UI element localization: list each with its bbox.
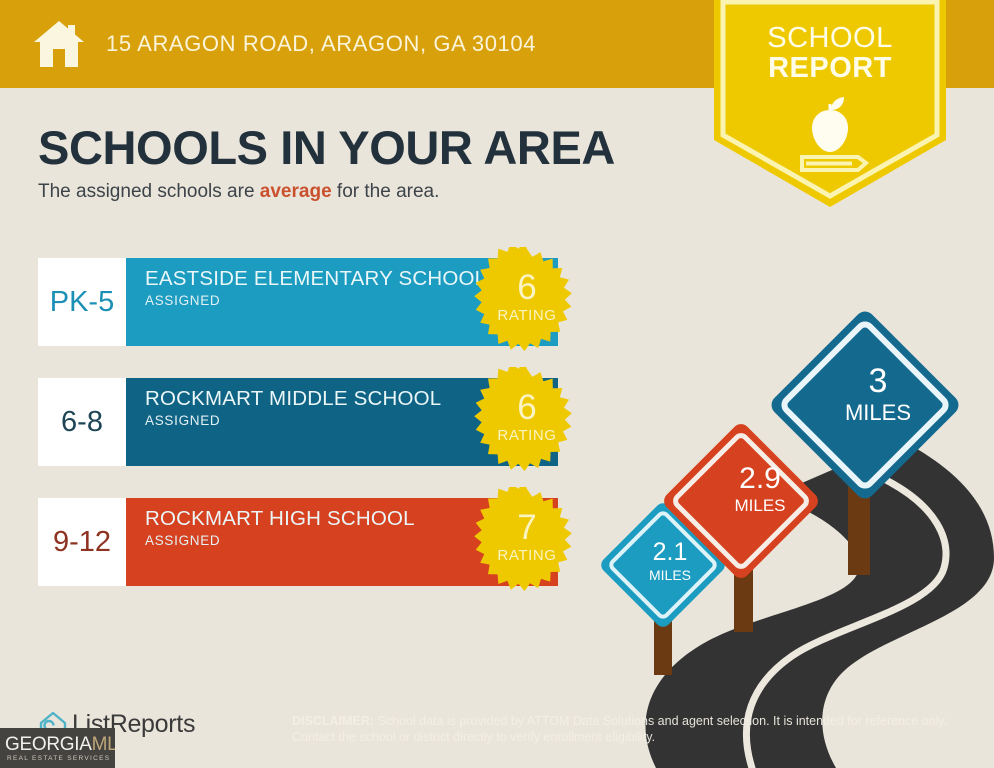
house-icon (32, 19, 86, 69)
grade-range: 6-8 (38, 378, 126, 466)
school-row[interactable]: PK-5 EASTSIDE ELEMENTARY SCHOOL ASSIGNED… (38, 258, 558, 346)
subtitle-before: The assigned schools are (38, 181, 260, 202)
disclaimer-text: DISCLAIMER: School data is provided by A… (292, 713, 952, 745)
grade-range: PK-5 (38, 258, 126, 346)
grade-range: 9-12 (38, 498, 126, 586)
road-illustration: 2.1 MILES 2.9 MILES 3 MILES (596, 300, 994, 768)
mls-word-mls: MLS (92, 734, 115, 755)
disclaimer-prefix: DISCLAIMER: (292, 714, 374, 728)
starburst-shape (474, 247, 572, 351)
school-list: PK-5 EASTSIDE ELEMENTARY SCHOOL ASSIGNED… (38, 258, 558, 618)
mls-tagline: REAL ESTATE SERVICES (7, 755, 110, 762)
page-title: SCHOOLS IN YOUR AREA (38, 120, 615, 175)
starburst-shape (474, 367, 572, 471)
mls-wordmark: GEORGIAMLS (5, 734, 115, 756)
school-row[interactable]: 9-12 ROCKMART HIGH SCHOOL ASSIGNED 7 RAT… (38, 498, 558, 586)
starburst-shape (474, 487, 572, 591)
rating-badge: 7 RATING (472, 487, 582, 597)
georgiamls-watermark: GEORGIAMLS REAL ESTATE SERVICES (0, 728, 115, 768)
school-row[interactable]: 6-8 ROCKMART MIDDLE SCHOOL ASSIGNED 6 RA… (38, 378, 558, 466)
subtitle-after: for the area. (332, 181, 440, 202)
disclaimer-body: School data is provided by ATTOM Data So… (292, 714, 947, 744)
subtitle-highlight: average (260, 181, 332, 202)
mls-word-georgia: GEORGIA (5, 734, 92, 755)
property-address: 15 ARAGON ROAD, ARAGON, GA 30104 (106, 31, 536, 57)
school-report-banner: SCHOOL REPORT (714, 0, 946, 212)
rating-badge: 6 RATING (472, 367, 582, 477)
rating-badge: 6 RATING (472, 247, 582, 357)
school-report-infographic: 15 ARAGON ROAD, ARAGON, GA 30104 SCHOOL … (0, 0, 994, 768)
subtitle: The assigned schools are average for the… (38, 181, 439, 203)
